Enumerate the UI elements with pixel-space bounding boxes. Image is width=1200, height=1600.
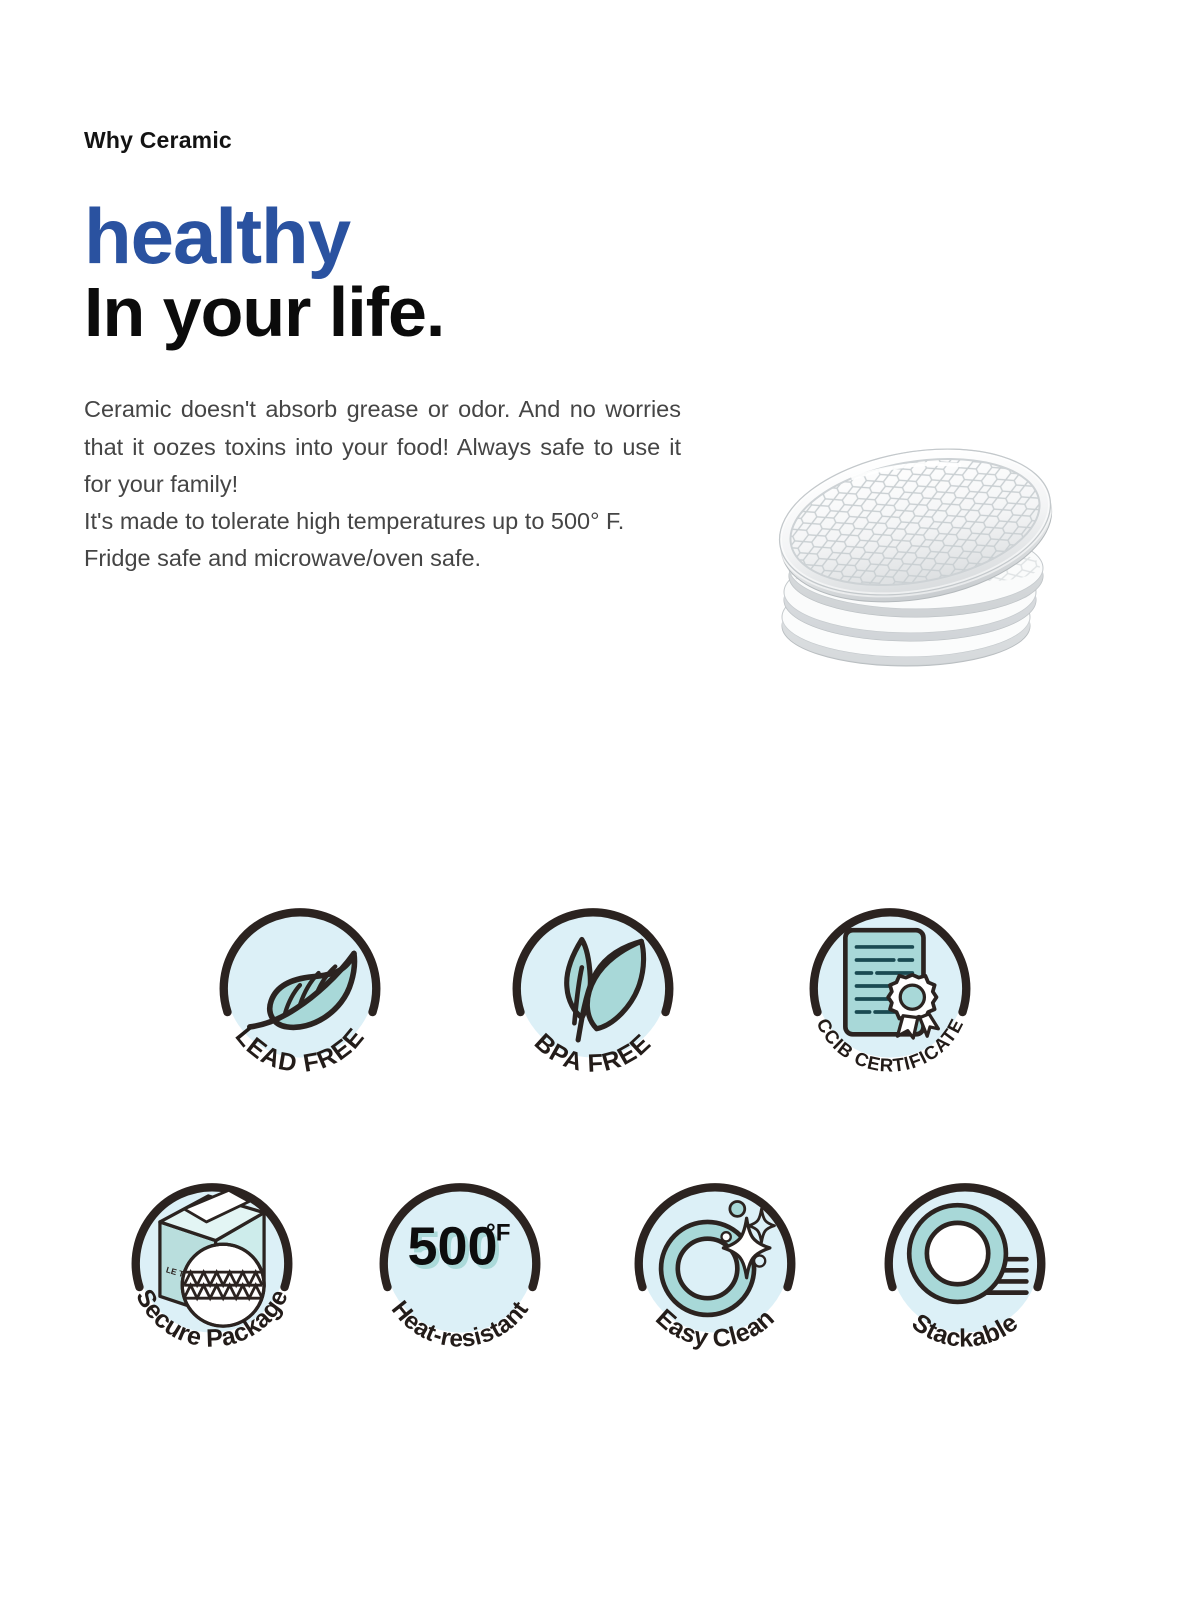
intro-text-column: Why Ceramic healthy In your life. Cerami… (84, 128, 684, 577)
body-paragraph-2: It's made to tolerate high temperatures … (84, 503, 681, 577)
badge-heat-resistant[interactable]: 500 500 °F Heat-resistant (367, 1168, 553, 1354)
badge-stackable[interactable]: Stackable (872, 1168, 1058, 1354)
certificate-icon (845, 930, 938, 1038)
temperature-icon: 500 500 °F (408, 1217, 511, 1281)
body-copy: Ceramic doesn't absorb grease or odor. A… (84, 391, 681, 577)
eyebrow-label: Why Ceramic (84, 128, 684, 153)
headline-secondary: In your life. (84, 277, 684, 347)
badge-ccib-certificate[interactable]: CCIB CERTIFICATE (797, 893, 983, 1079)
product-photo-plate-stack (740, 430, 1090, 680)
temperature-value: 500 (408, 1217, 498, 1277)
badge-easy-clean[interactable]: Easy Clean (622, 1168, 808, 1354)
temperature-unit: °F (486, 1220, 510, 1247)
body-paragraph-1: Ceramic doesn't absorb grease or odor. A… (84, 391, 681, 502)
badge-secure-package[interactable]: LE TAUO Secure Package (119, 1168, 305, 1354)
badge-bpa-free[interactable]: BPA FREE (500, 893, 686, 1079)
headline-primary: healthy (84, 199, 684, 273)
badge-lead-free[interactable]: LEAD FREE (207, 893, 393, 1079)
